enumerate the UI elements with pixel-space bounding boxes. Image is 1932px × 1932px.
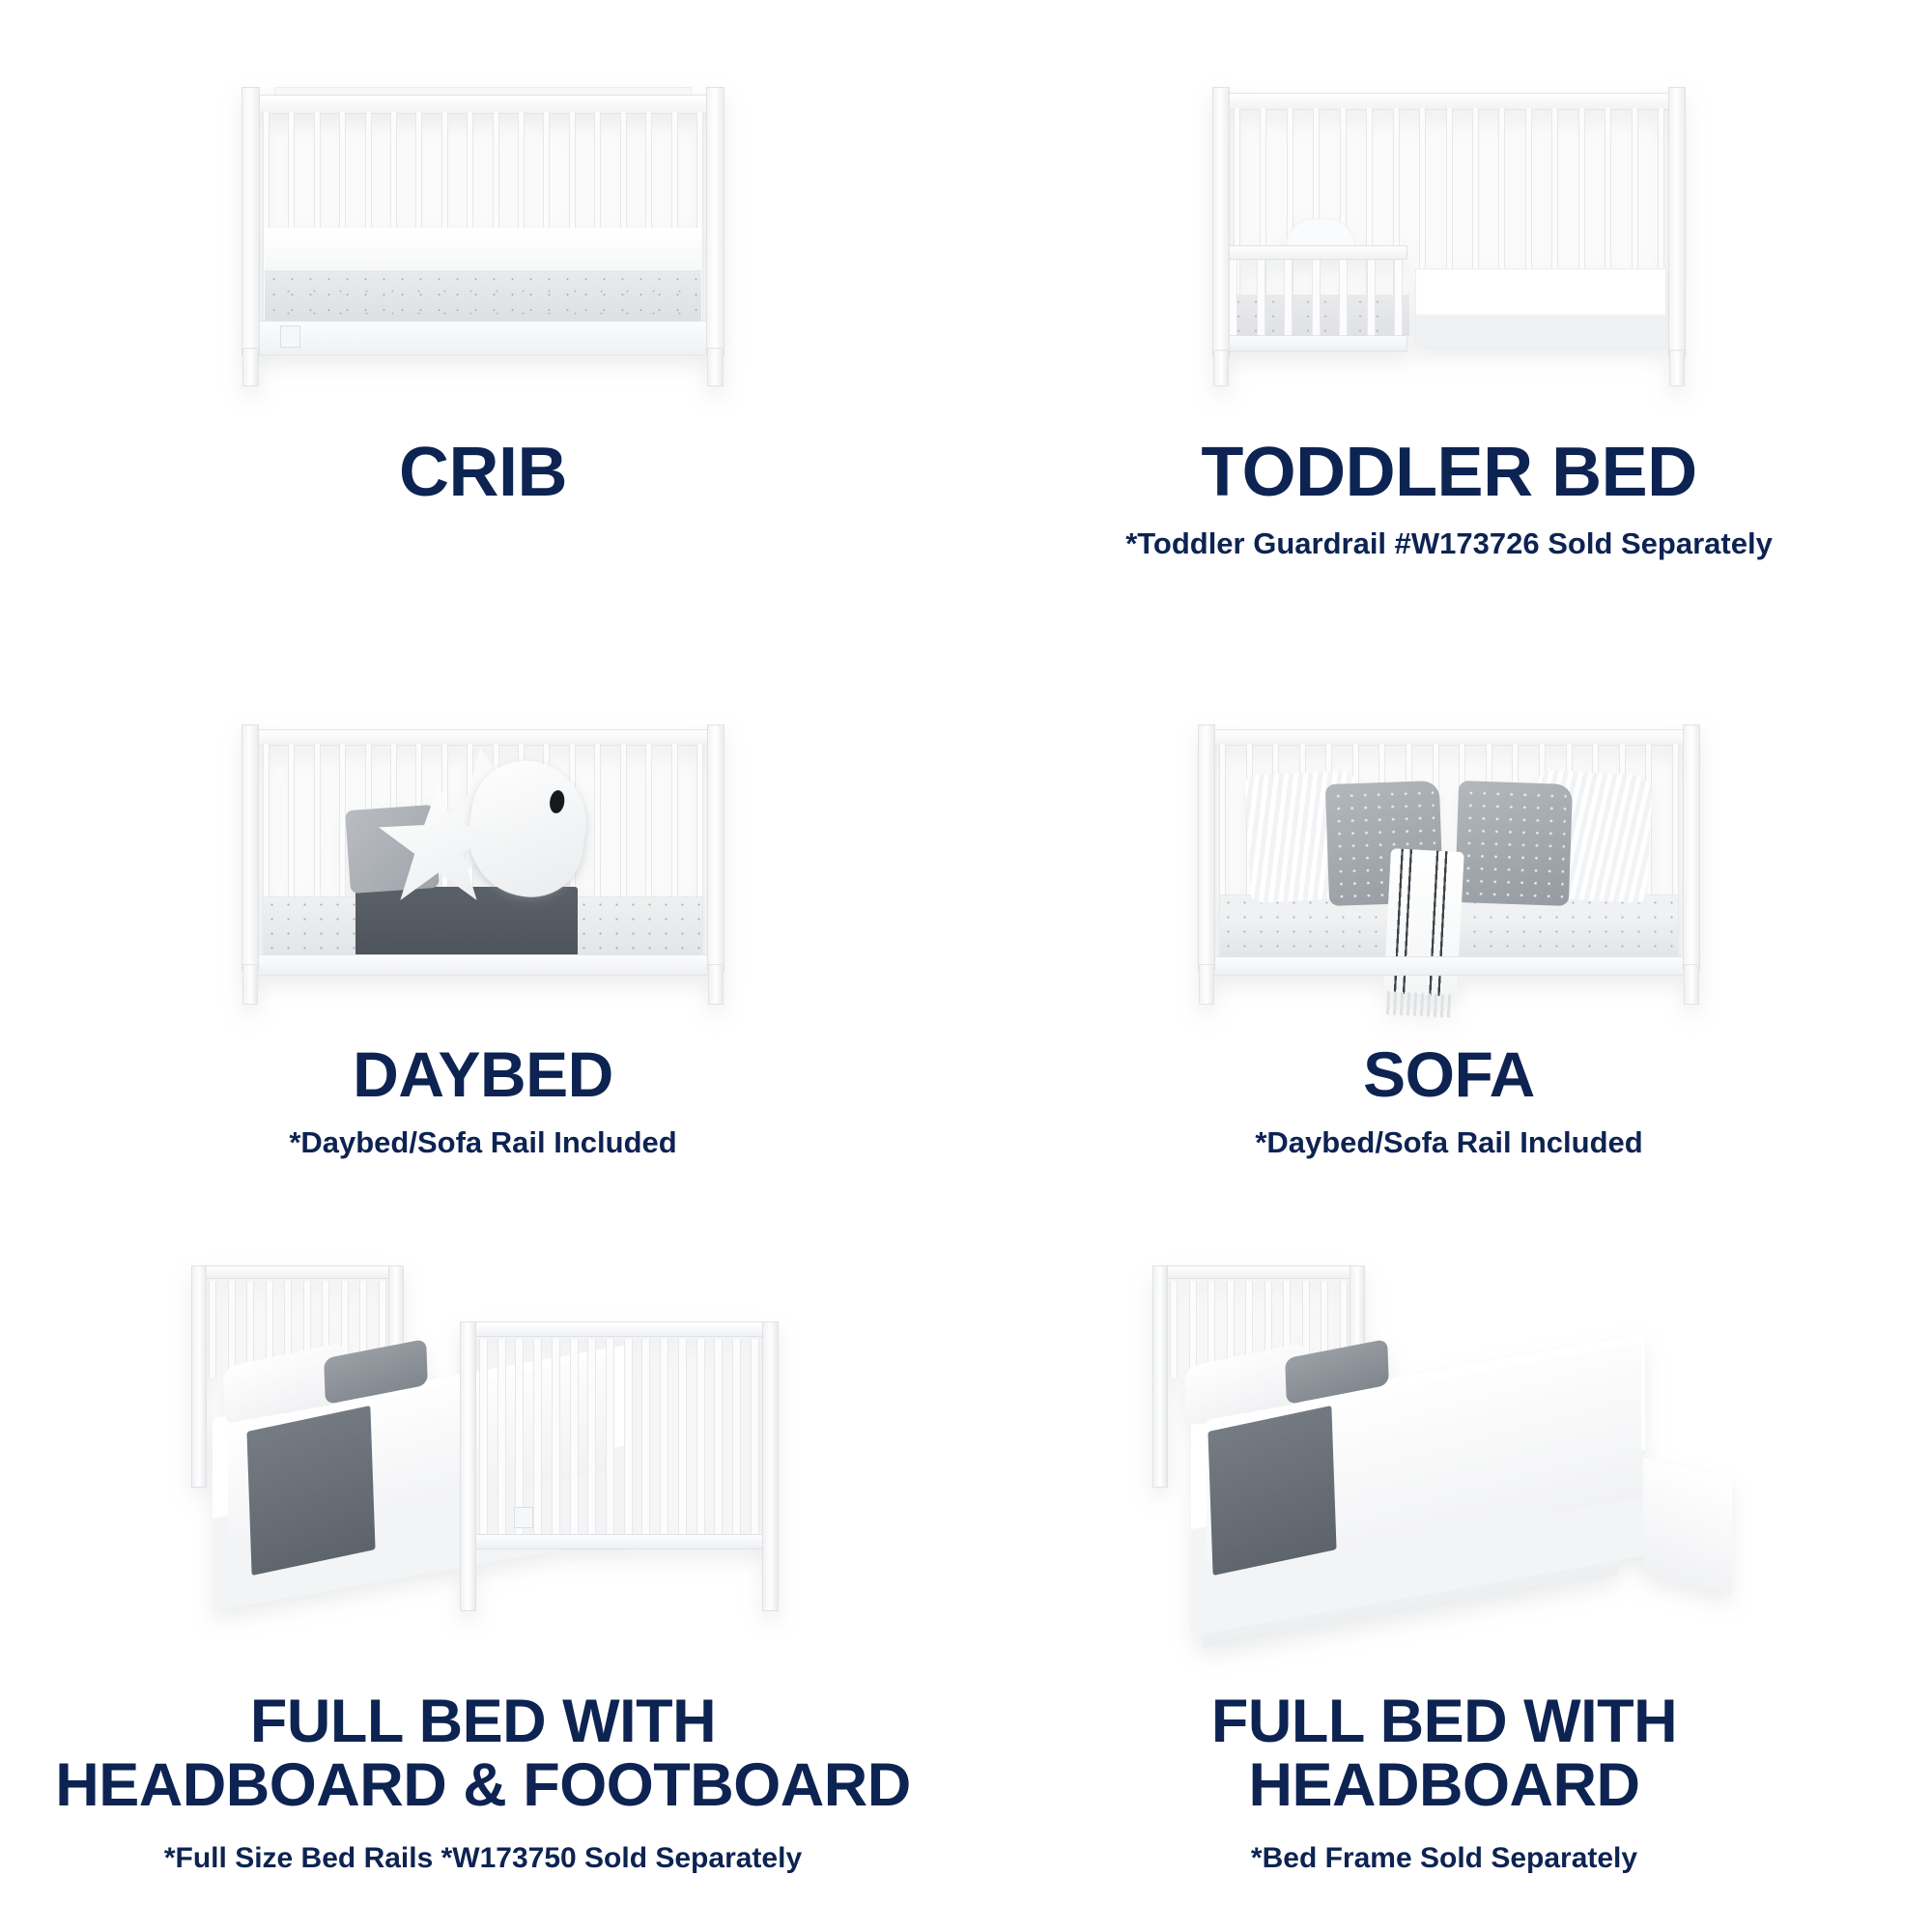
guardrail-bottom-rail xyxy=(1224,335,1407,352)
crib-illustration xyxy=(241,87,724,386)
daybed-leg-left xyxy=(242,964,258,1005)
crib-leg-left xyxy=(242,348,259,386)
panel-full-bed-headboard: FULL BED WITH HEADBOARD *Bed Frame Sold … xyxy=(976,1256,1913,1876)
daybed-post-left xyxy=(241,724,259,971)
daybed-base-rail xyxy=(254,954,712,976)
sofa-post-right xyxy=(1683,724,1700,971)
headboard-post-left xyxy=(1152,1265,1168,1488)
toddler-mattress xyxy=(1415,269,1666,348)
moon-pillow-eye-icon xyxy=(549,789,566,814)
panel-note-full-bed-headboard: *Bed Frame Sold Separately xyxy=(1251,1842,1637,1876)
toddler-bed-figure xyxy=(995,68,1903,386)
headboard-post-left xyxy=(191,1265,207,1488)
crib-post-right xyxy=(706,87,724,355)
panel-daybed: DAYBED *Daybed/Sofa Rail Included xyxy=(39,715,927,1159)
crib-figure xyxy=(39,68,927,386)
daybed-illustration xyxy=(241,724,724,1005)
daybed-figure xyxy=(39,715,927,1005)
gray-bed-runner xyxy=(1207,1406,1336,1576)
panel-sofa: SOFA *Daybed/Sofa Rail Included xyxy=(995,715,1903,1159)
toddler-post-right xyxy=(1668,87,1686,357)
panel-title-daybed: DAYBED xyxy=(353,1041,613,1108)
full-bed-h-illustration xyxy=(1135,1265,1753,1633)
crib-bottom-rail xyxy=(255,321,711,355)
sofa-figure xyxy=(995,715,1903,1005)
panel-title-sofa: SOFA xyxy=(1363,1041,1535,1108)
guardrail-slats xyxy=(1229,260,1403,335)
footboard-top-rail xyxy=(460,1321,779,1337)
guardrail-top-rail xyxy=(1224,245,1407,260)
crib-mattress xyxy=(265,270,701,323)
sofa-illustration xyxy=(1198,724,1700,1005)
footboard-bottom-rail xyxy=(460,1534,779,1549)
toddler-guardrail xyxy=(1224,245,1407,352)
duvet-drape-corner xyxy=(1643,1458,1732,1596)
crib-leg-right xyxy=(707,348,724,386)
toddler-post-left xyxy=(1212,87,1230,357)
sofa-leg-left xyxy=(1199,964,1214,1005)
panel-crib: CRIB xyxy=(39,68,927,526)
panel-title-full-bed-headboard: FULL BED WITH HEADBOARD xyxy=(1211,1690,1677,1817)
footboard-post-left xyxy=(460,1321,476,1611)
full-bed-hf-illustration xyxy=(174,1265,792,1633)
toddler-leg-right xyxy=(1669,350,1685,386)
daybed-leg-right xyxy=(708,964,724,1005)
panel-title-toddler-bed: TODDLER BED xyxy=(1201,437,1696,509)
panel-note-toddler-bed: *Toddler Guardrail #W173726 Sold Separat… xyxy=(1125,526,1773,561)
brand-badge-icon xyxy=(514,1507,533,1528)
gray-pillow-right xyxy=(1455,781,1573,906)
full-bed-h-figure xyxy=(976,1256,1913,1633)
panel-full-bed-headboard-footboard: FULL BED WITH HEADBOARD & FOOTBOARD *Ful… xyxy=(19,1256,947,1876)
headboard-top-rail xyxy=(1152,1265,1365,1279)
crib-sheet xyxy=(265,228,701,270)
panel-note-full-bed-headboard-footboard: *Full Size Bed Rails *W173750 Sold Separ… xyxy=(164,1842,802,1876)
gray-bed-runner xyxy=(246,1406,375,1576)
daybed-blanket xyxy=(355,887,578,956)
footboard xyxy=(460,1321,779,1611)
sofa-post-left xyxy=(1198,724,1215,971)
panel-title-full-bed-headboard-footboard: FULL BED WITH HEADBOARD & FOOTBOARD xyxy=(55,1690,910,1817)
panel-toddler-bed: TODDLER BED *Toddler Guardrail #W173726 … xyxy=(995,68,1903,561)
toddler-bed-illustration xyxy=(1212,87,1686,386)
footboard-slats xyxy=(479,1339,759,1534)
toddler-leg-left xyxy=(1213,350,1229,386)
headboard-top-rail xyxy=(191,1265,404,1279)
panel-note-sofa: *Daybed/Sofa Rail Included xyxy=(1255,1125,1642,1160)
daybed-post-right xyxy=(707,724,724,971)
footboard-post-right xyxy=(762,1321,779,1611)
crib-post-left xyxy=(241,87,260,355)
panel-note-daybed: *Daybed/Sofa Rail Included xyxy=(289,1125,676,1160)
full-bed-hf-figure xyxy=(19,1256,947,1633)
panel-title-crib: CRIB xyxy=(399,437,567,509)
crib-conversion-infographic: CRIB xyxy=(0,0,1932,1932)
sofa-base-rail xyxy=(1210,956,1688,976)
sofa-leg-right xyxy=(1684,964,1699,1005)
brand-badge-icon xyxy=(280,326,300,348)
crib-top-rail xyxy=(255,95,711,114)
